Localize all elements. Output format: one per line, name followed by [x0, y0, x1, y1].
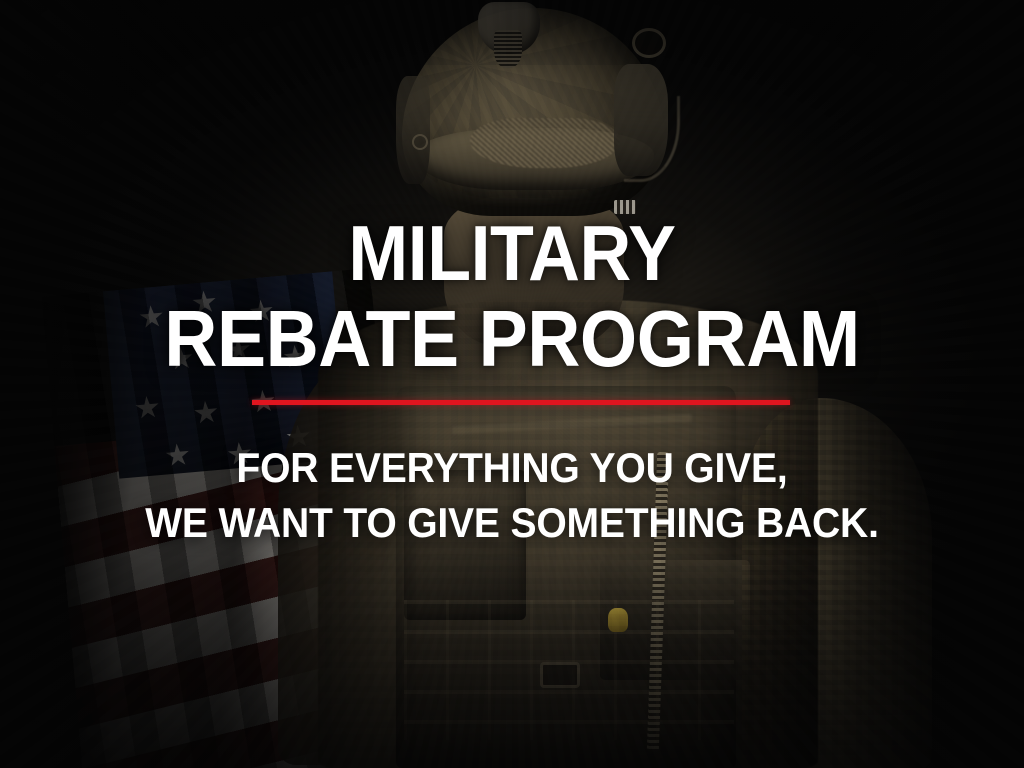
text-overlay: MILITARY REBATE PROGRAM FOR EVERYTHING Y… [0, 0, 1024, 768]
red-divider-rule [252, 400, 790, 405]
military-rebate-poster: MILITARY REBATE PROGRAM FOR EVERYTHING Y… [0, 0, 1024, 768]
subhead-line-1: FOR EVERYTHING YOU GIVE, [36, 447, 988, 489]
headline-line-2: REBATE PROGRAM [41, 300, 983, 378]
subhead-line-2: WE WANT TO GIVE SOMETHING BACK. [36, 502, 988, 544]
headline-line-1: MILITARY [41, 215, 983, 291]
